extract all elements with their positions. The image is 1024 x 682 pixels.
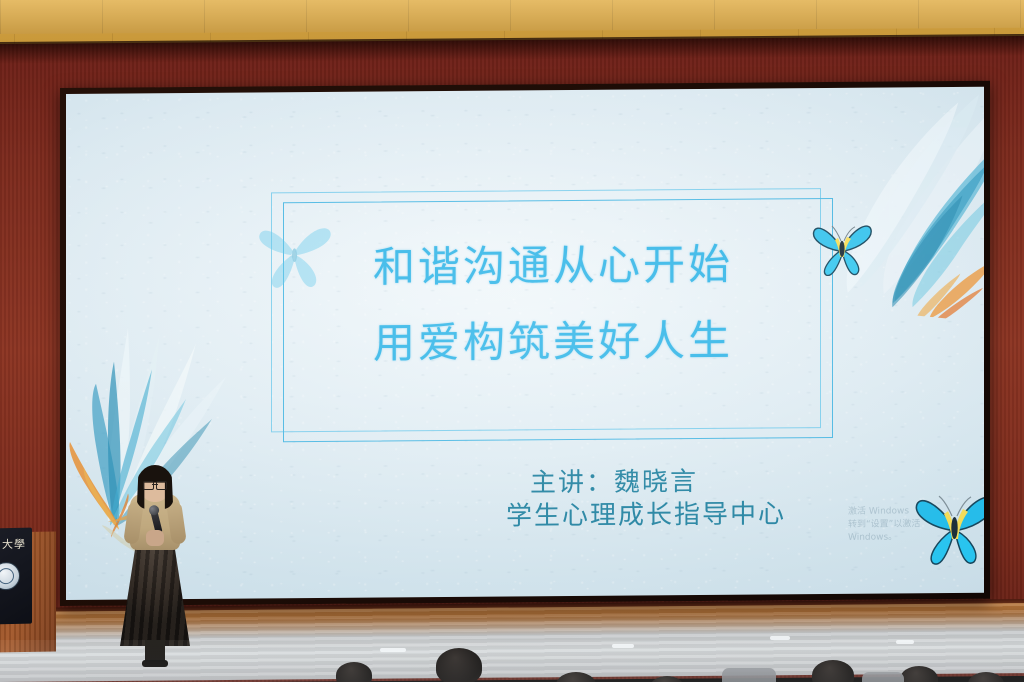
table-highlight — [896, 640, 914, 644]
table-highlight — [612, 644, 634, 648]
presenter-hands — [146, 530, 164, 546]
presenter — [112, 468, 198, 668]
table-highlight — [770, 636, 790, 640]
presenter-skirt — [120, 538, 190, 646]
audience-head — [436, 648, 482, 682]
eyeglasses-icon — [143, 481, 167, 488]
audience-chair — [722, 668, 776, 682]
auditorium-photo: 和谐沟通从心开始 用爱构筑美好人生 主讲：魏晓言 学生心理成长指导中心 激活 W… — [0, 0, 1024, 682]
podium-sign-text: 大學 — [0, 536, 26, 553]
university-seal-icon — [0, 562, 20, 590]
projection-screen: 和谐沟通从心开始 用爱构筑美好人生 主讲：魏晓言 学生心理成长指导中心 激活 W… — [66, 87, 984, 600]
audience-head — [812, 660, 854, 682]
audience-head — [336, 662, 372, 682]
podium-sign: 大學 — [0, 528, 32, 625]
audience-chair — [862, 672, 904, 682]
screen-vignette — [66, 87, 984, 600]
table-highlight — [380, 648, 406, 652]
presenter-shoes — [142, 660, 168, 667]
